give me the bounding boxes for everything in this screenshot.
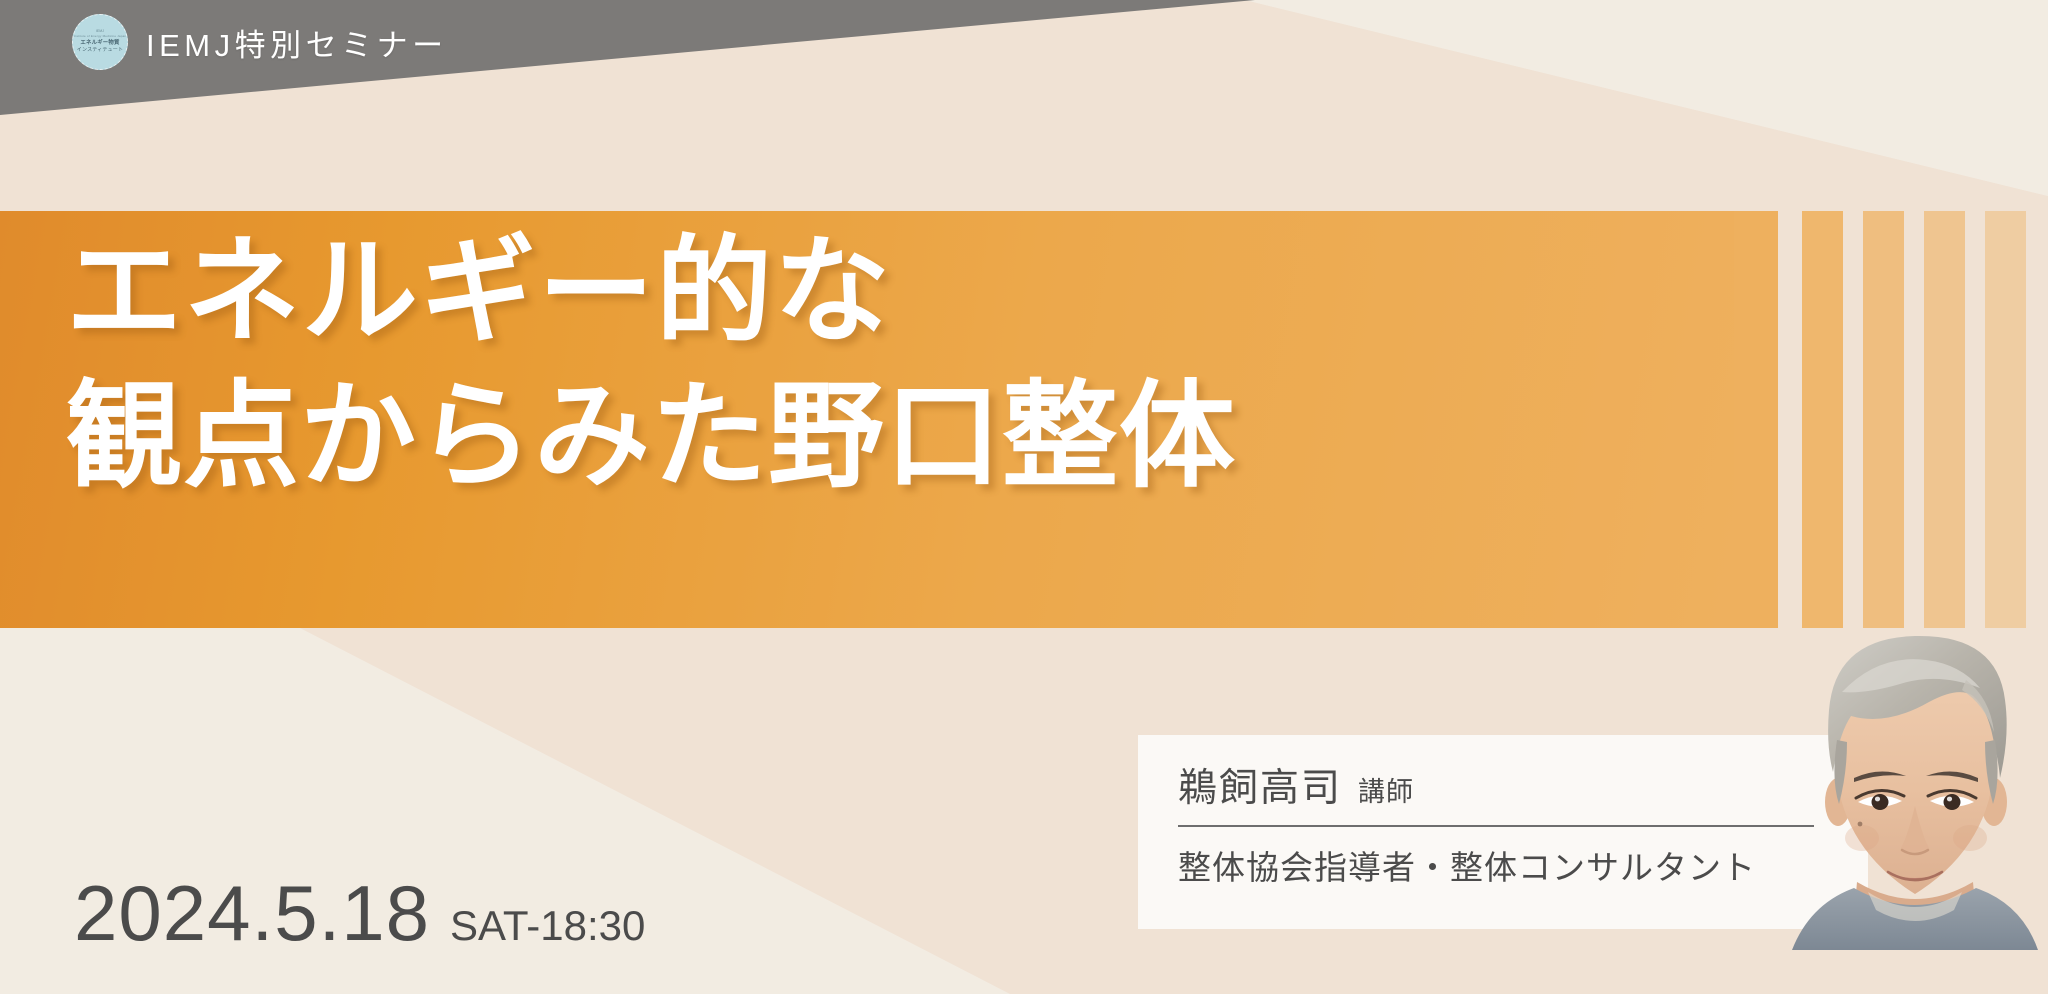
speaker-role: 講師: [1358, 770, 1414, 809]
speaker-portrait: [1782, 620, 2048, 950]
speaker-title: 整体協会指導者・整体コンサルタント: [1172, 841, 1834, 889]
logo-line-4: インスティテュート: [77, 47, 123, 55]
stripe-gap-7: [1965, 211, 1985, 628]
speaker-name: 鵜飼高司: [1178, 757, 1342, 813]
header: IEMJ Institute of Energy Medicine Japan …: [72, 14, 448, 70]
page-title: エネルギー的な 観点からみた野口整体: [66, 219, 1236, 509]
stripe-gap-5: [1904, 211, 1924, 628]
decorative-stripes: [1734, 211, 2048, 628]
iemj-logo-icon: IEMJ Institute of Energy Medicine Japan …: [72, 14, 128, 70]
divider: [1178, 825, 1814, 827]
stripe-2: [1802, 211, 1843, 628]
stripe-gap-1: [1778, 211, 1802, 628]
speaker-info-box: 鵜飼高司 講師 整体協会指導者・整体コンサルタント: [1138, 735, 1868, 929]
stripe-4: [1863, 211, 1904, 628]
day-time-value: SAT-18:30: [450, 902, 645, 950]
stripe-gap-9: [2026, 211, 2048, 628]
event-date: 2024.5.18 SAT-18:30: [74, 868, 645, 959]
stripe-6: [1924, 211, 1965, 628]
header-title: IEMJ特別セミナー: [146, 20, 448, 65]
logo-line-3: エネルギー物質: [80, 39, 119, 47]
date-value: 2024.5.18: [74, 868, 430, 959]
stripe-0: [1734, 211, 1778, 628]
title-line-2: 観点からみた野口整体: [66, 364, 1236, 509]
speaker-name-row: 鵜飼高司 講師: [1172, 757, 1834, 813]
stripe-8: [1985, 211, 2026, 628]
stripe-gap-3: [1843, 211, 1863, 628]
seminar-banner: IEMJ Institute of Energy Medicine Japan …: [0, 0, 2048, 994]
title-line-1: エネルギー的な: [66, 219, 1236, 364]
